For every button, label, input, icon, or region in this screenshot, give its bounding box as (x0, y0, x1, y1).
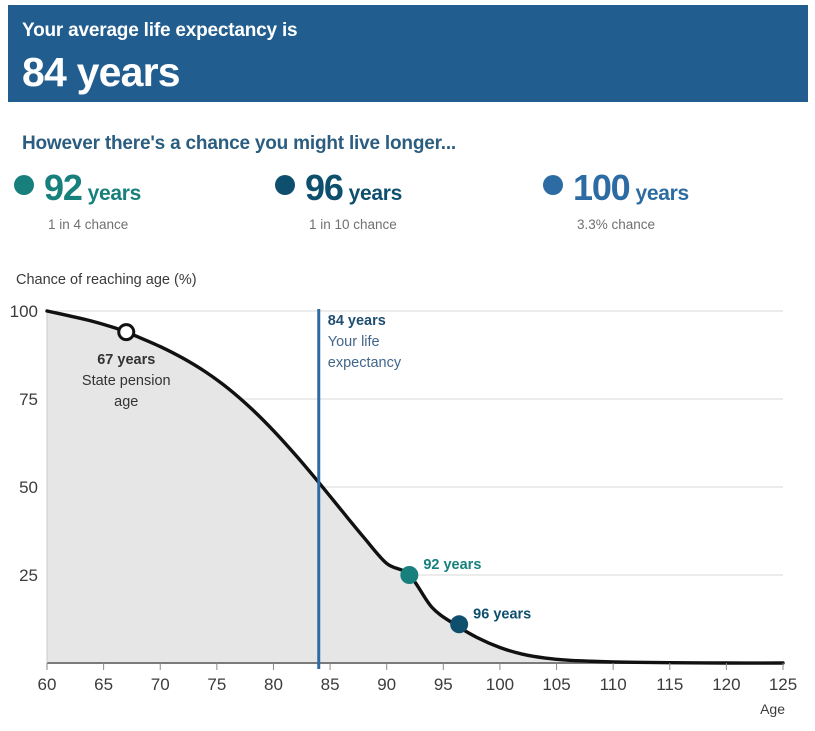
x-tick-label: 100 (486, 675, 514, 694)
y-axis-ticks: 255075100 (10, 302, 38, 585)
life-expectancy-banner: Your average life expectancy is 84 years (8, 5, 808, 102)
stat-chance: 3.3% chance (577, 217, 689, 232)
x-tick-label: 120 (712, 675, 740, 694)
stat-age: 96 (305, 170, 343, 206)
x-tick-label: 70 (151, 675, 170, 694)
x-tick-label: 115 (656, 675, 683, 694)
longevity-heading: However there's a chance you might live … (22, 133, 456, 155)
chart-canvas: 6065707580859095100105110115120125 25507… (0, 272, 815, 731)
x-tick-label: 105 (542, 675, 570, 694)
blue-dot-icon (543, 175, 563, 195)
y-tick-label: 75 (19, 390, 38, 409)
life-expectancy-annotation-title: 84 years (328, 313, 386, 329)
x-tick-label: 125 (769, 675, 797, 694)
x-tick-label: 75 (207, 675, 226, 694)
x-tick-label: 60 (38, 675, 57, 694)
stat-age: 92 (44, 170, 82, 206)
stat-unit: years (635, 182, 688, 206)
stat-unit: years (88, 182, 141, 206)
pension-annotation-line: State pension (82, 373, 171, 389)
life-expectancy-annotation-line: expectancy (328, 355, 402, 371)
x-tick-label: 95 (434, 675, 453, 694)
stat-row: 96 years (275, 170, 402, 206)
stat-chance: 1 in 10 chance (309, 217, 402, 232)
point-label-92: 92 years (423, 557, 481, 573)
stat-chance: 1 in 4 chance (48, 217, 141, 232)
life-expectancy-annotation-line: Your life (328, 334, 380, 350)
y-tick-label: 100 (10, 302, 38, 321)
stat-unit: years (349, 182, 402, 206)
stat-block-92: 92 years 1 in 4 chance (14, 170, 141, 232)
x-axis-title: Age (760, 701, 785, 717)
x-axis-ticks: 6065707580859095100105110115120125 (38, 663, 798, 694)
pension-annotation-title: 67 years (97, 352, 155, 368)
x-tick-label: 85 (321, 675, 340, 694)
teal-dot-icon (14, 175, 34, 195)
y-tick-label: 50 (19, 478, 38, 497)
stat-age: 100 (573, 170, 629, 206)
x-tick-label: 90 (377, 675, 396, 694)
stat-block-96: 96 years 1 in 10 chance (275, 170, 402, 232)
banner-subtitle: Your average life expectancy is (22, 19, 808, 43)
x-tick-label: 65 (94, 675, 113, 694)
survival-chart: Chance of reaching age (%) 6065707580859… (0, 272, 815, 731)
navy-dot-icon (275, 175, 295, 195)
stat-row: 100 years (543, 170, 689, 206)
pension-annotation-line: age (114, 394, 138, 410)
stat-block-100: 100 years 3.3% chance (543, 170, 689, 232)
banner-value: 84 years (22, 47, 808, 97)
x-tick-label: 80 (264, 675, 283, 694)
x-tick-label: 110 (600, 675, 627, 694)
point-label-96.4: 96 years (473, 606, 531, 622)
stat-row: 92 years (14, 170, 141, 206)
y-tick-label: 25 (19, 566, 38, 585)
